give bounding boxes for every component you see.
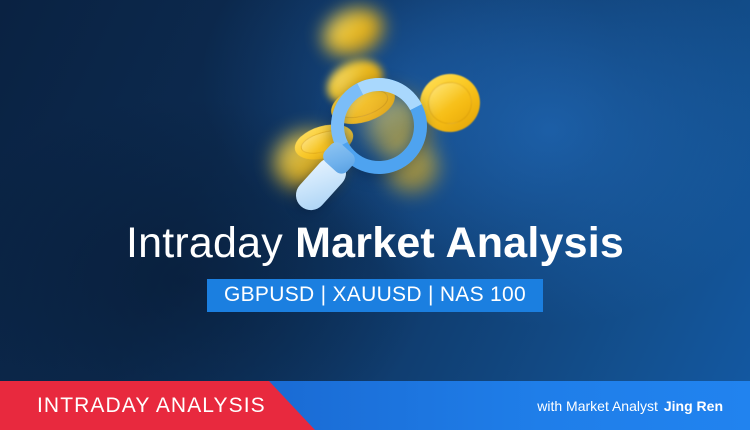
coin-blurred-top [316,0,390,64]
title-bold-words: Market Analysis [295,219,624,267]
title-light-word: Intraday [126,219,283,267]
instrument-pairs-badge: GBPUSD | XAUUSD | NAS 100 [207,279,543,312]
footer-analyst-credit: with Market Analyst Jing Ren [537,381,723,430]
promo-banner: Intraday Market Analysis GBPUSD | XAUUSD… [0,0,750,430]
title-block: Intraday Market Analysis GBPUSD | XAUUSD… [0,218,750,312]
footer-banner: INTRADAY ANALYSIS with Market Analyst Ji… [0,381,750,430]
analyst-name: Jing Ren [664,398,723,414]
footer-category-label: INTRADAY ANALYSIS [37,381,266,430]
page-title: Intraday Market Analysis [0,218,750,268]
credit-prefix-text: with Market Analyst [537,398,658,414]
magnifier-coins-illustration [268,6,498,211]
